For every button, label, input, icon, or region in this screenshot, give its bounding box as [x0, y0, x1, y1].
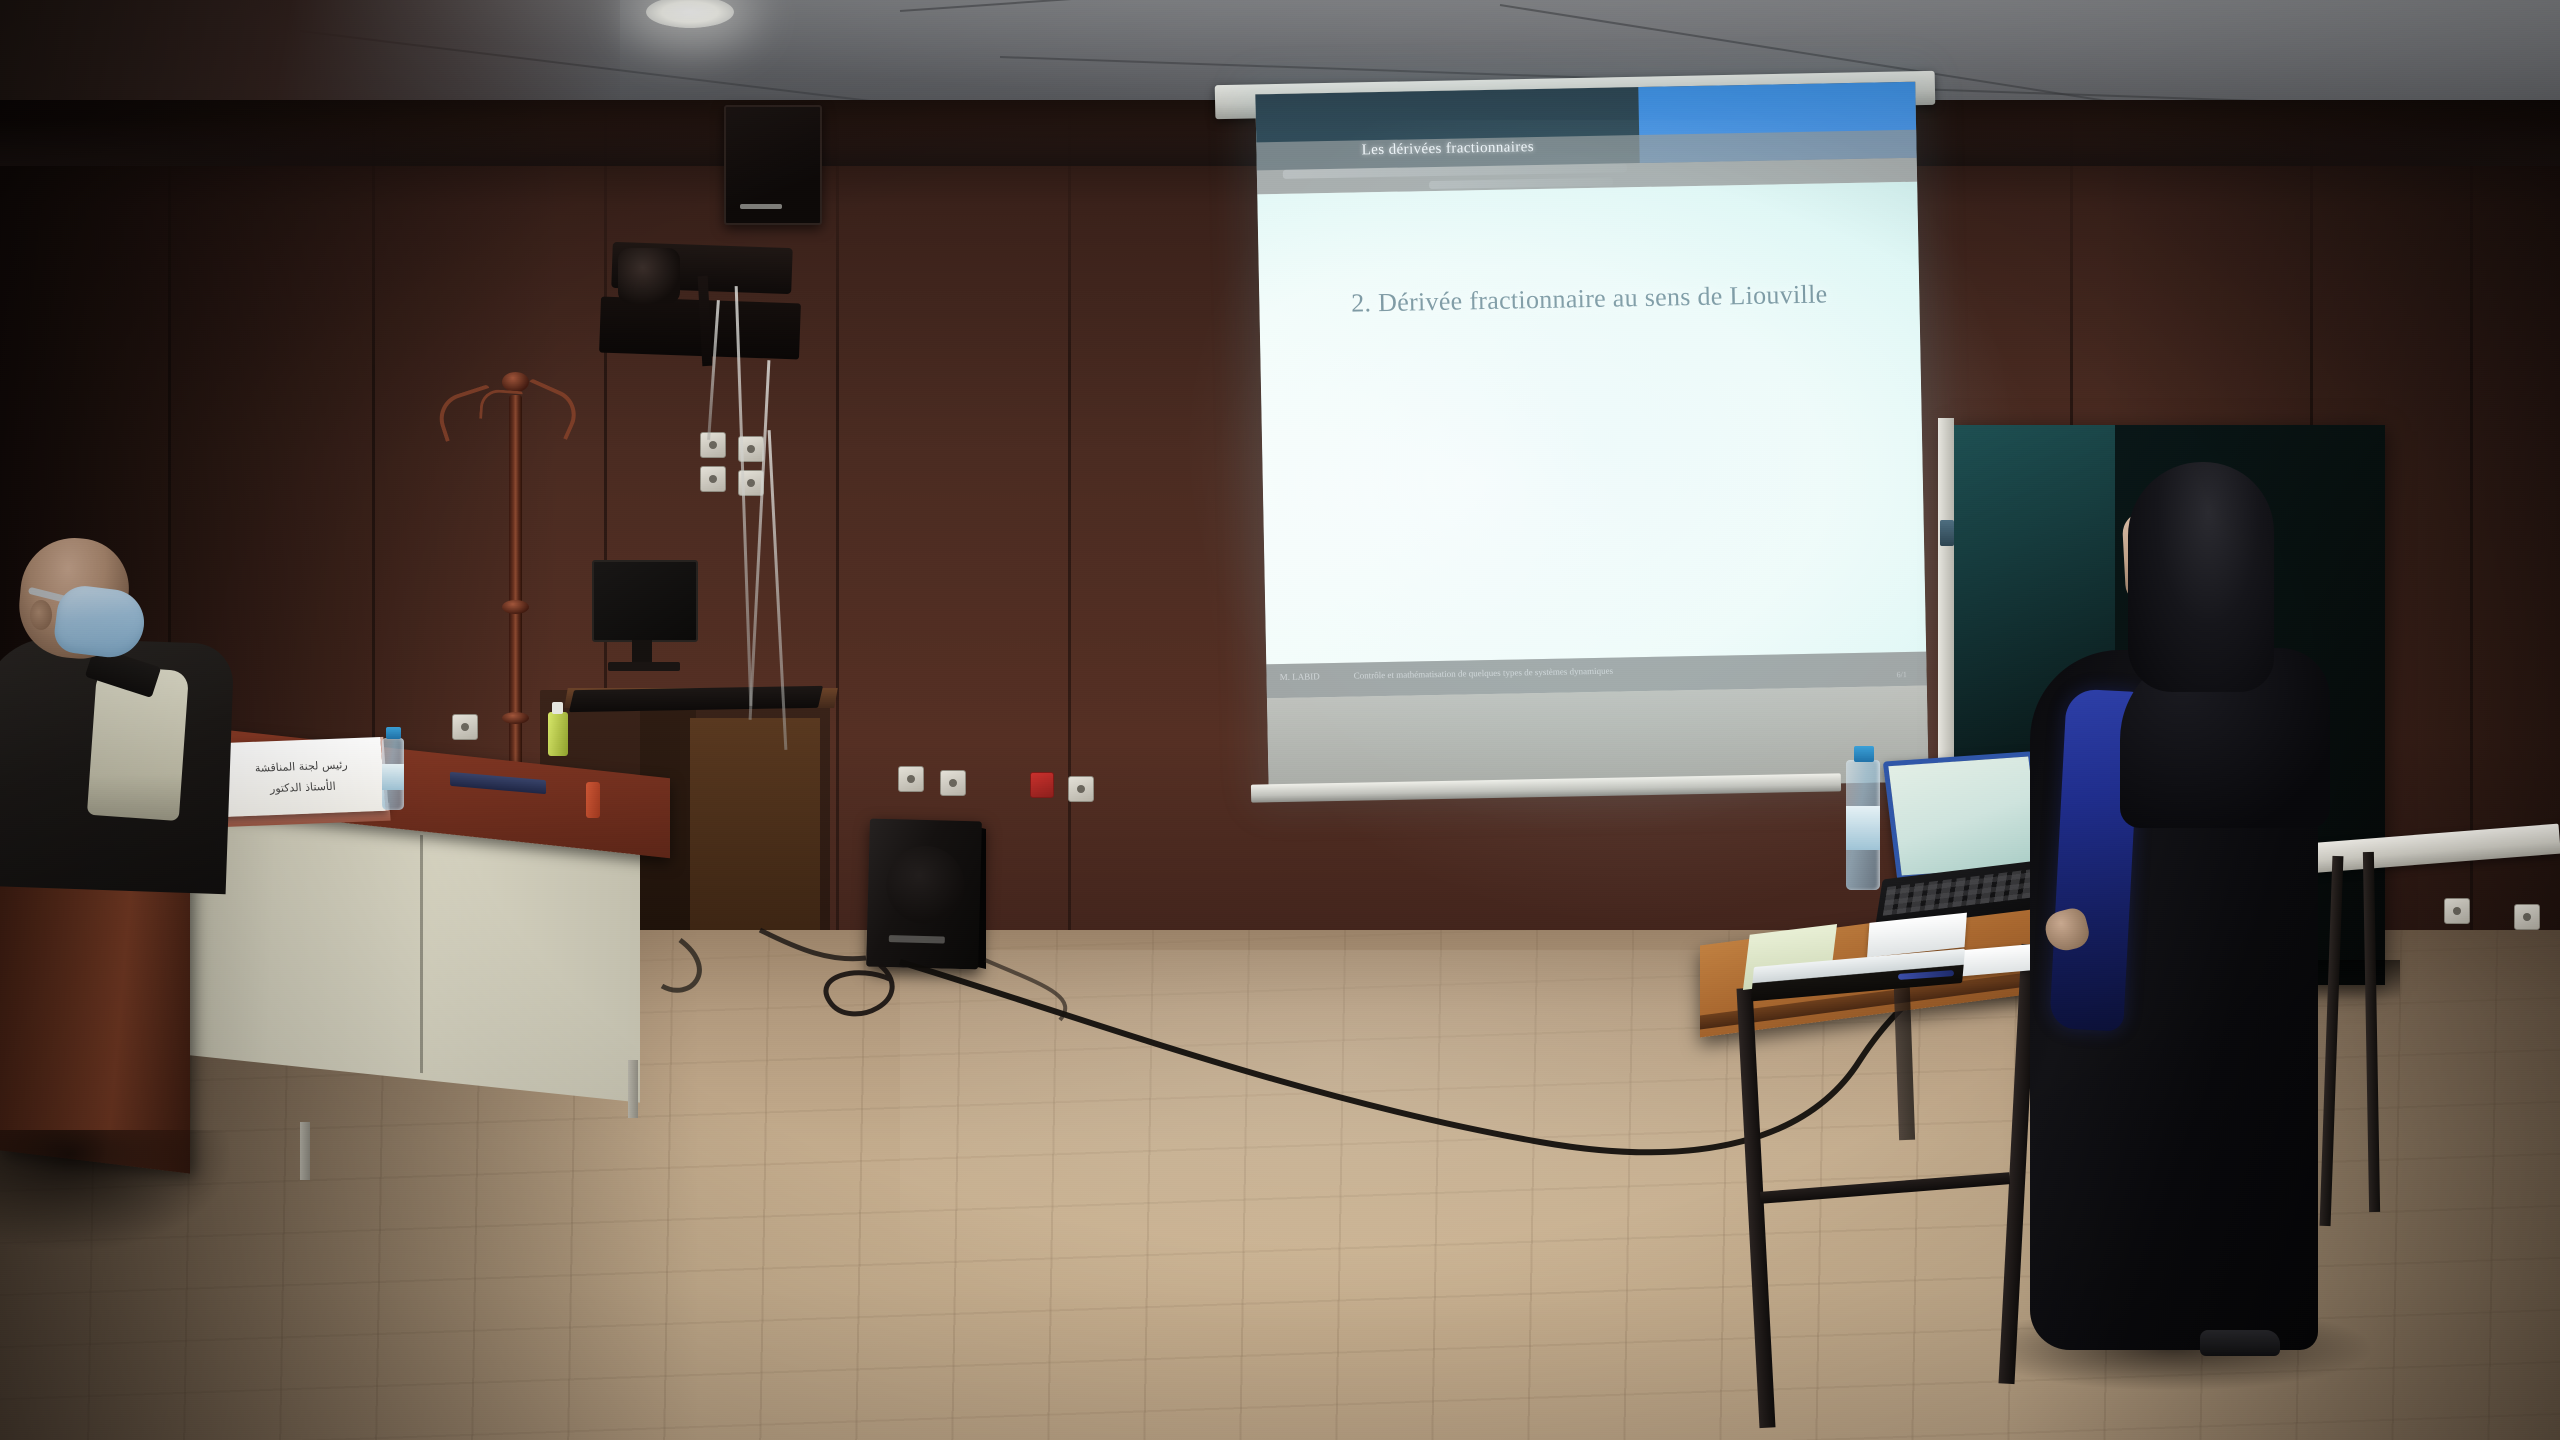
coat-rack-ring [502, 600, 529, 614]
room-photo-scene: Les dérivées fractionnaires 2. Dérivée f… [0, 0, 2560, 1440]
slide-body [1257, 182, 1926, 665]
desktop-monitor [592, 560, 698, 642]
floor-speaker [866, 819, 982, 970]
sanitizer-cap [552, 702, 563, 714]
jury-desk-body [172, 803, 640, 1102]
coat-rack-ring [502, 712, 529, 724]
seated-person-ear [30, 600, 52, 630]
sanitizer-bottle [548, 712, 568, 756]
name-card-line-1: رئيس لجنة المناقشة [254, 758, 348, 775]
wall-socket[interactable] [2514, 904, 2540, 930]
slide-footer-author: M. LABID [1280, 671, 1320, 682]
water-bottle [382, 738, 404, 810]
wall-socket[interactable] [2444, 898, 2470, 924]
wall-socket[interactable] [700, 432, 726, 458]
bottle-label [1846, 806, 1880, 850]
orange-bottle [586, 782, 600, 818]
speaker-badge [889, 935, 945, 943]
wall-switch-red[interactable] [1030, 772, 1054, 798]
slide-page-number: 6/1 [1896, 670, 1906, 679]
coat-rack [509, 395, 522, 795]
bottle-label [382, 764, 404, 790]
wall-socket[interactable] [452, 714, 478, 740]
jury-desk-leg [300, 1122, 310, 1180]
av-cabinet-front [690, 718, 820, 948]
jury-desk-drawer-seam [420, 835, 423, 1073]
wall-socket[interactable] [700, 466, 726, 492]
water-bottle [1846, 760, 1880, 890]
wall-speaker [724, 105, 822, 225]
ceiling-projector [618, 248, 680, 304]
podium-shadow [0, 1130, 230, 1250]
monitor-base [608, 662, 680, 671]
presenter-hijab [2128, 462, 2274, 692]
wall-socket[interactable] [1068, 776, 1094, 802]
projection-screen: Les dérivées fractionnaires 2. Dérivée f… [1255, 82, 1928, 795]
jury-desk-leg [628, 1060, 638, 1118]
laptop-screen [1888, 757, 2041, 876]
speaker-badge [740, 204, 782, 209]
coat-rack-hook [479, 388, 523, 421]
wall-socket[interactable] [940, 770, 966, 796]
speaker-cone [885, 845, 965, 925]
wall-panel-seam [1068, 100, 1071, 990]
name-card-line-2: الأستاذ الدكتور [269, 780, 336, 795]
name-card: رئيس لجنة المناقشة الأستاذ الدكتور [215, 737, 388, 817]
wall-socket[interactable] [898, 766, 924, 792]
presentation-slide: Les dérivées fractionnaires 2. Dérivée f… [1255, 82, 1928, 795]
presenter-shoe [2200, 1330, 2280, 1356]
bottle-cap [386, 727, 401, 739]
wall-panel-seam [836, 100, 839, 990]
board-clip [1940, 520, 1954, 546]
bottle-cap [1854, 746, 1874, 762]
